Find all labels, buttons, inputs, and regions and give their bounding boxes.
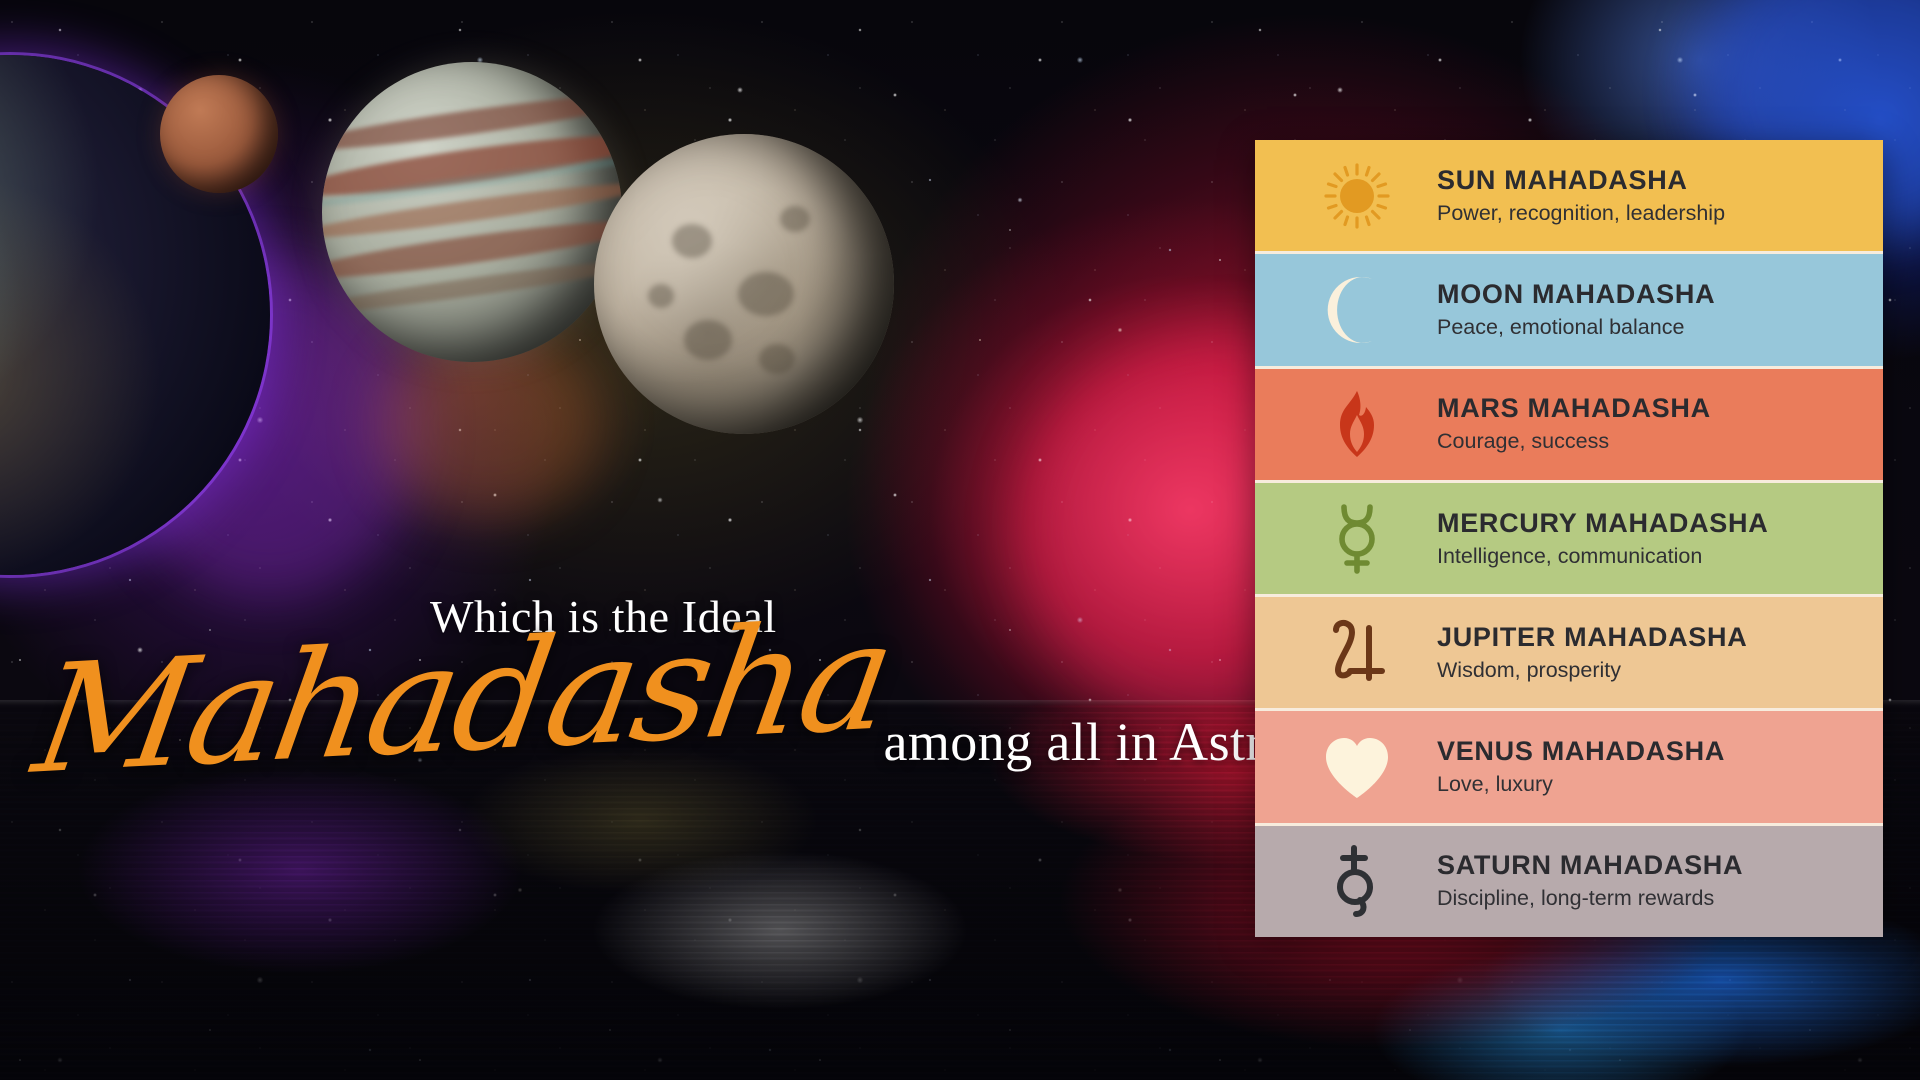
mahadasha-title: SUN MAHADASHA <box>1437 165 1725 196</box>
mahadasha-row-venus[interactable]: VENUS MAHADASHA Love, luxury <box>1255 708 1883 822</box>
mahadasha-title: MOON MAHADASHA <box>1437 279 1715 310</box>
mahadasha-subtitle: Love, luxury <box>1437 772 1725 798</box>
mahadasha-row-sun[interactable]: SUN MAHADASHA Power, recognition, leader… <box>1255 140 1883 251</box>
mahadasha-row-mars[interactable]: MARS MAHADASHA Courage, success <box>1255 366 1883 480</box>
mars-planet <box>160 75 278 193</box>
mahadasha-subtitle: Intelligence, communication <box>1437 544 1768 570</box>
flame-icon <box>1303 385 1411 463</box>
moon-planet <box>594 134 894 434</box>
mahadasha-row-jupiter[interactable]: JUPITER MAHADASHA Wisdom, prosperity <box>1255 594 1883 708</box>
headline-line-2: Mahadasha among all in Astrology <box>20 646 1389 796</box>
mahadasha-title: JUPITER MAHADASHA <box>1437 622 1747 653</box>
poster-canvas: Which is the Ideal Mahadasha among all i… <box>0 0 1920 1080</box>
crescent-moon-icon <box>1303 271 1411 349</box>
mahadasha-subtitle: Peace, emotional balance <box>1437 315 1715 341</box>
mahadasha-subtitle: Wisdom, prosperity <box>1437 658 1747 684</box>
mahadasha-row-moon[interactable]: MOON MAHADASHA Peace, emotional balance <box>1255 251 1883 365</box>
mahadasha-title: VENUS MAHADASHA <box>1437 736 1725 767</box>
headline-script-word: Mahadasha <box>20 602 906 796</box>
headline-block: Which is the Ideal Mahadasha among all i… <box>0 590 1240 840</box>
heart-icon <box>1303 728 1411 806</box>
mahadasha-list-panel: SUN MAHADASHA Power, recognition, leader… <box>1255 140 1883 937</box>
sun-icon <box>1303 157 1411 235</box>
jupiter-planet <box>322 62 622 362</box>
jupiter-symbol-icon <box>1303 614 1411 692</box>
mahadasha-subtitle: Courage, success <box>1437 429 1711 455</box>
mahadasha-title: SATURN MAHADASHA <box>1437 850 1743 881</box>
mahadasha-subtitle: Power, recognition, leadership <box>1437 201 1725 227</box>
saturn-symbol-icon <box>1303 842 1411 920</box>
mahadasha-row-mercury[interactable]: MERCURY MAHADASHA Intelligence, communic… <box>1255 480 1883 594</box>
mahadasha-title: MARS MAHADASHA <box>1437 393 1711 424</box>
mahadasha-title: MERCURY MAHADASHA <box>1437 508 1768 539</box>
mahadasha-row-saturn[interactable]: SATURN MAHADASHA Discipline, long-term r… <box>1255 823 1883 937</box>
mercury-symbol-icon <box>1303 499 1411 577</box>
mahadasha-subtitle: Discipline, long-term rewards <box>1437 886 1743 912</box>
